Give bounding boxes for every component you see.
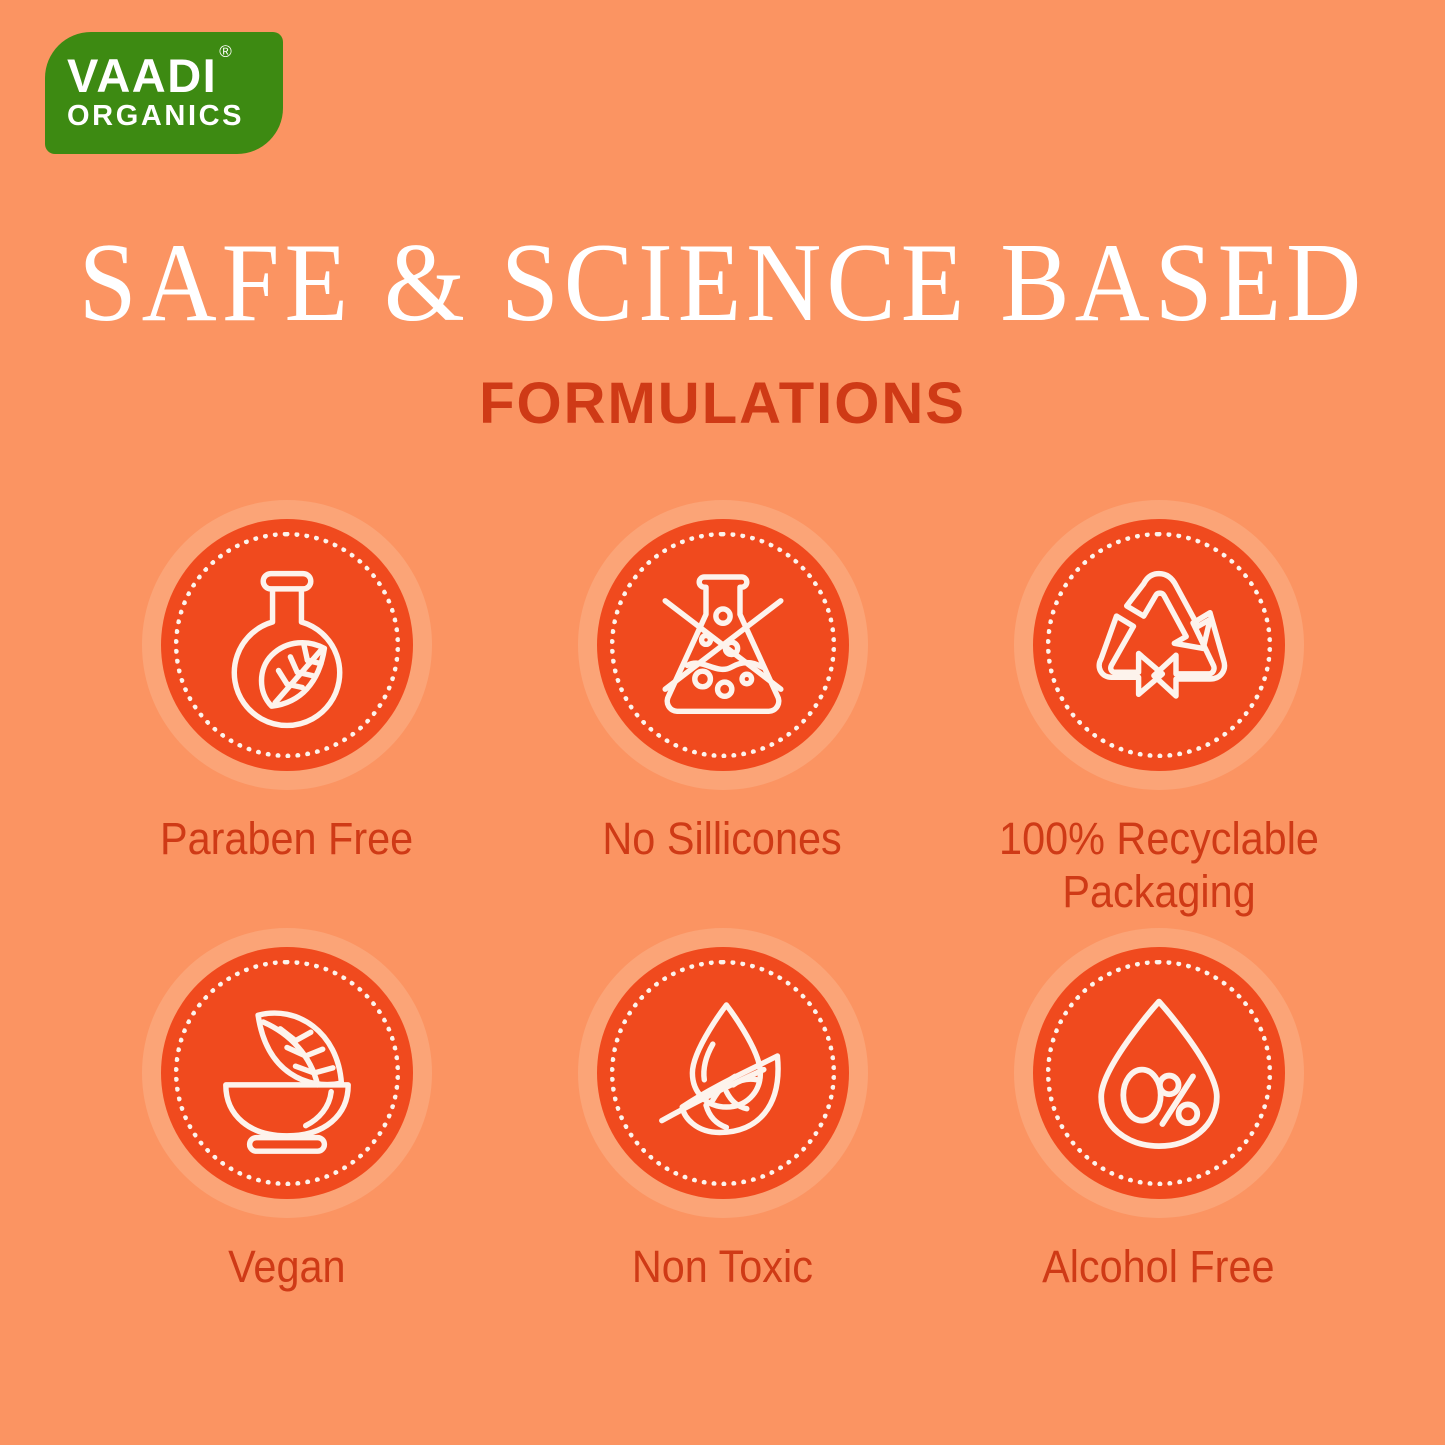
badge-paraben-free: Paraben Free (69, 500, 505, 865)
badge-circle (578, 928, 868, 1218)
badge-disc (1033, 947, 1285, 1199)
badge-vegan: Vegan (69, 928, 505, 1293)
badge-row-1: Paraben Free (0, 500, 1445, 918)
registered-trademark-icon: ® (219, 42, 233, 61)
badge-disc (597, 947, 849, 1199)
bowl-leaf-icon (202, 988, 372, 1158)
infographic-page: { "brand": { "logo_main": "VAADI", "logo… (0, 0, 1445, 1445)
badge-non-toxic: Non Toxic (505, 928, 941, 1293)
badge-alcohol-free: Alcohol Free (941, 928, 1377, 1293)
logo-subtitle: ORGANICS (67, 101, 283, 133)
badge-disc (161, 519, 413, 771)
badge-label: Non Toxic (632, 1240, 813, 1293)
page-subtitle: FORMULATIONS (0, 372, 1445, 436)
badge-row-2: Vegan (0, 928, 1445, 1293)
badge-label: Vegan (228, 1240, 345, 1293)
badge-circle (142, 928, 432, 1218)
badge-no-sillicones: No Sillicones (505, 500, 941, 865)
recycle-icon (1074, 560, 1244, 730)
logo-wordmark: VAADI® (67, 53, 283, 99)
droplet-zero-percent-icon (1074, 988, 1244, 1158)
badge-disc (597, 519, 849, 771)
badge-label: Alcohol Free (1042, 1240, 1274, 1293)
brand-logo: VAADI® ORGANICS (45, 32, 283, 154)
badge-label: No Sillicones (603, 812, 842, 865)
badge-circle (1014, 500, 1304, 790)
badge-label: 100% Recyclable Packaging (965, 812, 1351, 918)
badge-disc (161, 947, 413, 1199)
badge-circle (1014, 928, 1304, 1218)
logo-wordmark-text: VAADI (67, 49, 217, 102)
flask-crossed-out-icon (638, 560, 808, 730)
badge-grid: Paraben Free (0, 500, 1445, 1293)
droplet-leaf-icon (638, 988, 808, 1158)
badge-disc (1033, 519, 1285, 771)
badge-label: Paraben Free (160, 812, 413, 865)
flask-leaf-icon (202, 560, 372, 730)
badge-circle (578, 500, 868, 790)
badge-recyclable-packaging: 100% Recyclable Packaging (941, 500, 1377, 918)
badge-circle (142, 500, 432, 790)
page-title: SAFE & SCIENCE BASED (0, 224, 1445, 342)
